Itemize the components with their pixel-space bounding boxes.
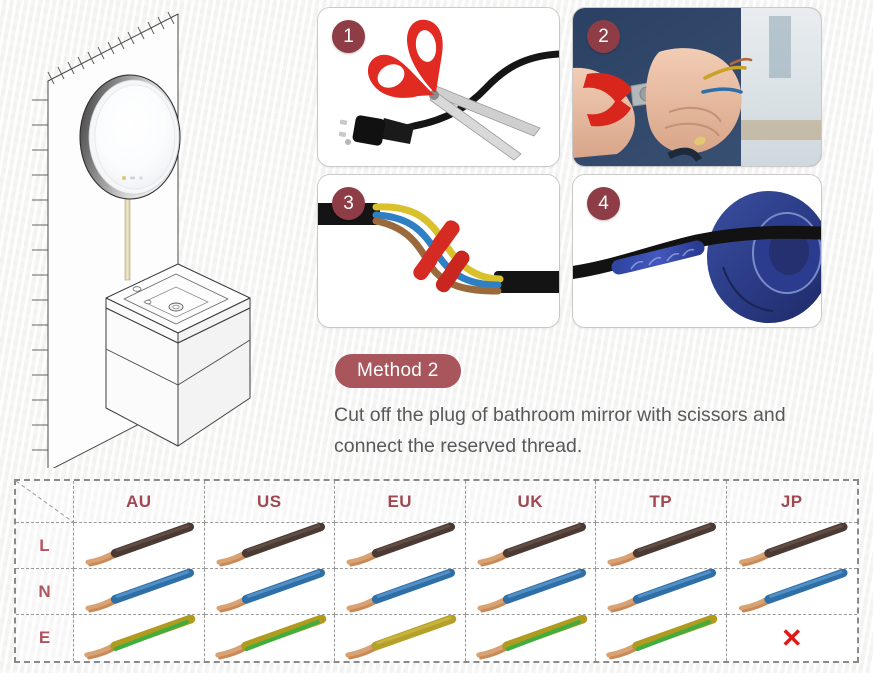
- power-cable: [125, 190, 131, 280]
- column-header-eu: EU: [335, 481, 466, 523]
- column-header-tp: TP: [596, 481, 727, 523]
- row-header-l: L: [16, 523, 74, 569]
- wire-cell-n-jp: [727, 569, 858, 615]
- step-badge-3: 3: [332, 187, 365, 220]
- vanity-cabinet: [106, 264, 250, 446]
- step-4-panel: 4: [572, 174, 822, 328]
- column-header-au: AU: [74, 481, 205, 523]
- wire-cell-e-tp: [596, 615, 727, 661]
- corner-diagonal-divider: [16, 481, 73, 522]
- row-header-n: N: [16, 569, 74, 615]
- wire-cell-l-au: [74, 523, 205, 569]
- step-badge-1: 1: [332, 20, 365, 53]
- bathroom-mirror-illustration: [18, 8, 318, 468]
- method-badge: Method 2: [335, 354, 461, 388]
- wire-cell-n-uk: [466, 569, 597, 615]
- wire-cell-n-eu: [335, 569, 466, 615]
- column-header-uk: UK: [466, 481, 597, 523]
- wire-cell-l-eu: [335, 523, 466, 569]
- step-3-panel: 3: [317, 174, 560, 328]
- wire-cell-l-uk: [466, 523, 597, 569]
- wire-cell-n-us: [205, 569, 336, 615]
- step-2-panel: 2: [572, 7, 822, 167]
- wire-cell-l-tp: [596, 523, 727, 569]
- column-header-us: US: [205, 481, 336, 523]
- wire-cell-l-jp: [727, 523, 858, 569]
- step-badge-4: 4: [587, 187, 620, 220]
- wiring-reference-table: AU US EU UK TP JP L N E ✕: [14, 479, 859, 663]
- wire-cell-e-au: [74, 615, 205, 661]
- not-applicable-x-icon: ✕: [781, 625, 803, 651]
- round-led-mirror: [80, 75, 180, 199]
- row-header-e: E: [16, 615, 74, 661]
- table-corner-cell: [16, 481, 74, 523]
- wire-cell-e-us: [205, 615, 336, 661]
- column-header-jp: JP: [727, 481, 858, 523]
- wire-cell-n-au: [74, 569, 205, 615]
- step-badge-2: 2: [587, 20, 620, 53]
- method-description: Cut off the plug of bathroom mirror with…: [334, 400, 844, 462]
- wire-cell-n-tp: [596, 569, 727, 615]
- step-1-panel: 1: [317, 7, 560, 167]
- wire-cell-e-uk: [466, 615, 597, 661]
- wire-cell-e-jp: ✕: [727, 615, 858, 661]
- wire-cell-e-eu: [335, 615, 466, 661]
- wire-cell-l-us: [205, 523, 336, 569]
